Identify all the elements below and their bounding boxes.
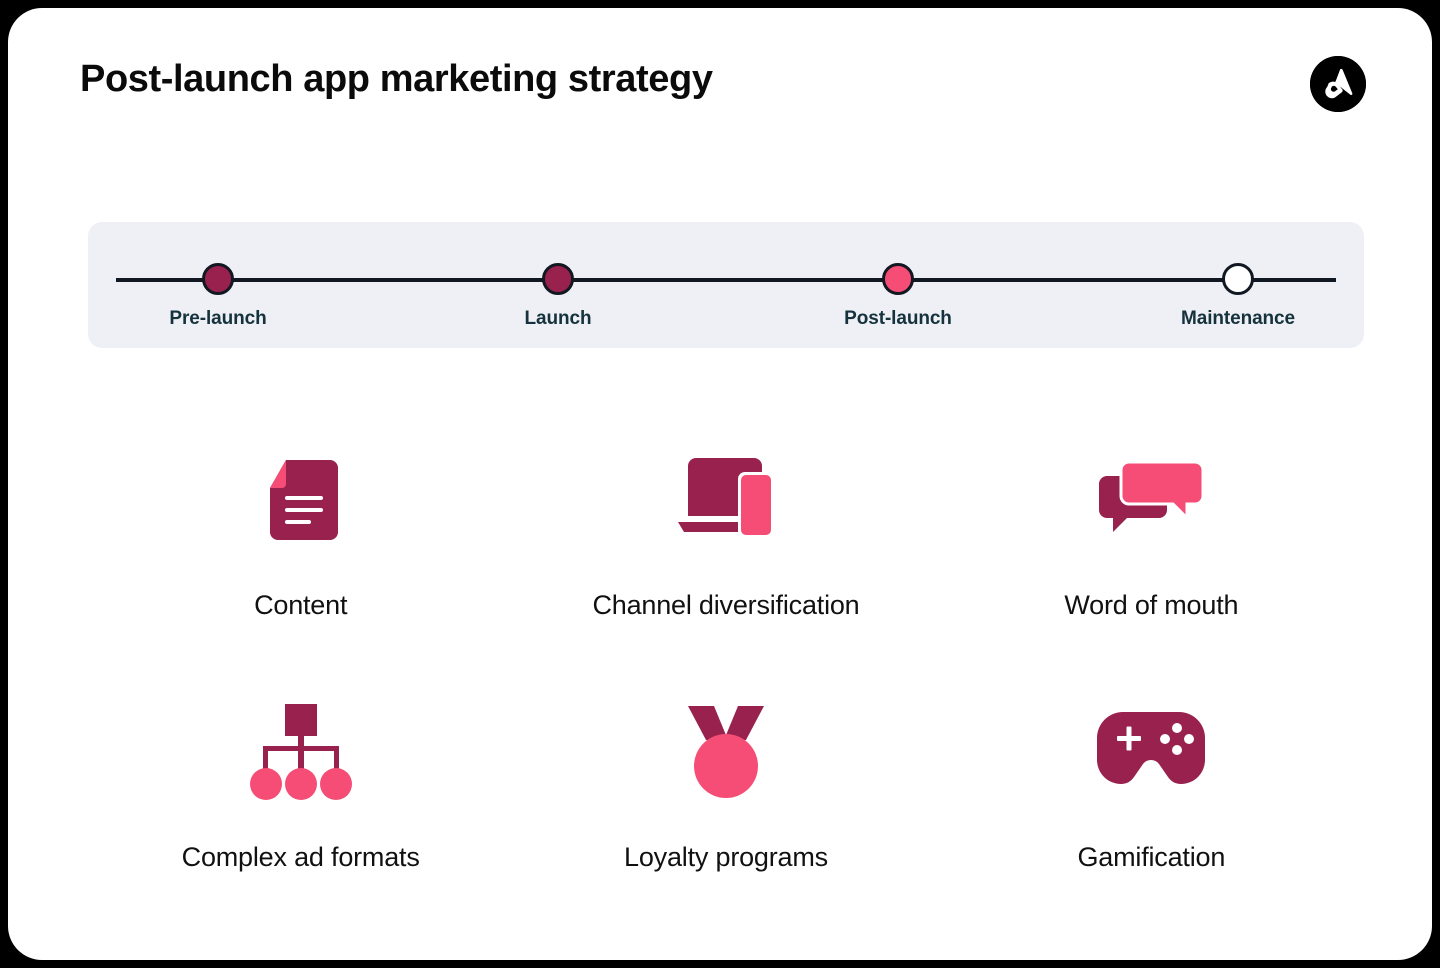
timeline-stop-maintenance[interactable]: Maintenance — [1138, 222, 1338, 330]
strategy-item-gamification[interactable]: Gamification — [939, 680, 1364, 932]
timeline-label-launch: Launch — [458, 308, 658, 330]
laptop-phone-icon — [666, 428, 786, 568]
strategy-item-label: Complex ad formats — [182, 842, 420, 873]
timeline-panel: Pre-launch Launch Post-launch Maintenanc… — [88, 222, 1364, 348]
timeline-stop-post-launch[interactable]: Post-launch — [798, 222, 998, 330]
timeline-stop-pre-launch[interactable]: Pre-launch — [118, 222, 318, 330]
strategy-item-label: Content — [254, 590, 347, 621]
strategy-item-label: Channel diversification — [592, 590, 859, 621]
strategy-item-complex-ad-formats[interactable]: Complex ad formats — [88, 680, 513, 932]
timeline-label-pre-launch: Pre-launch — [118, 308, 318, 330]
timeline-dot-maintenance[interactable] — [1222, 263, 1254, 295]
timeline-dot-pre-launch[interactable] — [202, 263, 234, 295]
timeline-stop-launch[interactable]: Launch — [458, 222, 658, 330]
strategy-item-channel-diversification[interactable]: Channel diversification — [513, 428, 938, 680]
header: Post-launch app marketing strategy — [8, 8, 1432, 148]
timeline-dot-post-launch[interactable] — [882, 263, 914, 295]
page-title: Post-launch app marketing strategy — [80, 58, 713, 101]
timeline-label-post-launch: Post-launch — [798, 308, 998, 330]
speech-bubbles-icon — [1091, 428, 1211, 568]
medal-icon — [674, 680, 778, 820]
game-controller-icon — [1093, 680, 1209, 820]
document-icon — [249, 428, 353, 568]
strategy-item-word-of-mouth[interactable]: Word of mouth — [939, 428, 1364, 680]
strategy-item-label: Gamification — [1077, 842, 1225, 873]
strategy-item-label: Word of mouth — [1064, 590, 1238, 621]
strategy-item-label: Loyalty programs — [624, 842, 828, 873]
brand-logo-icon — [1310, 56, 1366, 112]
strategy-item-content[interactable]: Content — [88, 428, 513, 680]
org-chart-icon — [245, 680, 357, 820]
strategy-items-grid: Content Channel diversification — [88, 428, 1364, 932]
timeline-dot-launch[interactable] — [542, 263, 574, 295]
infographic-card: Post-launch app marketing strategy Pre-l… — [8, 8, 1432, 960]
strategy-item-loyalty-programs[interactable]: Loyalty programs — [513, 680, 938, 932]
timeline-label-maintenance: Maintenance — [1138, 308, 1338, 330]
